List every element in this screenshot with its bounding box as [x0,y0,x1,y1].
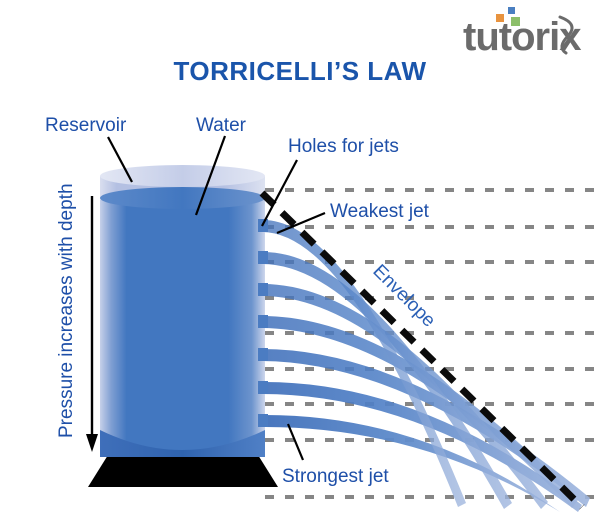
tutorix-logo[interactable]: tutorix [463,7,581,59]
hole-nozzle-4 [258,315,268,328]
page-title: TORRICELLI’S LAW [173,56,426,86]
tank-base [88,455,278,487]
hole-nozzle-5 [258,348,268,361]
torricelli-law-illustration: tutorix TORRICELLI’S LAW [0,0,600,512]
water-body [100,197,265,455]
strongest-jet-label: Strongest jet [282,466,389,487]
pressure-axis-label: Pressure increases with depth [56,183,77,438]
weakest-jet-label: Weakest jet [330,201,430,222]
hole-nozzle-6 [258,381,268,394]
holes-for-jets-label: Holes for jets [288,136,399,157]
hole-nozzle-3 [258,283,268,296]
water-surface [100,187,265,209]
reservoir-tank [88,165,278,487]
reservoir-label: Reservoir [45,115,127,136]
diagram-canvas: tutorix TORRICELLI’S LAW [0,0,600,512]
pressure-axis-arrow [86,196,98,452]
logo-blue-square [508,7,515,14]
holes-leader [262,160,297,226]
hole-nozzle-7 [258,414,268,427]
hole-nozzle-2 [258,251,268,264]
water-label: Water [196,115,247,136]
